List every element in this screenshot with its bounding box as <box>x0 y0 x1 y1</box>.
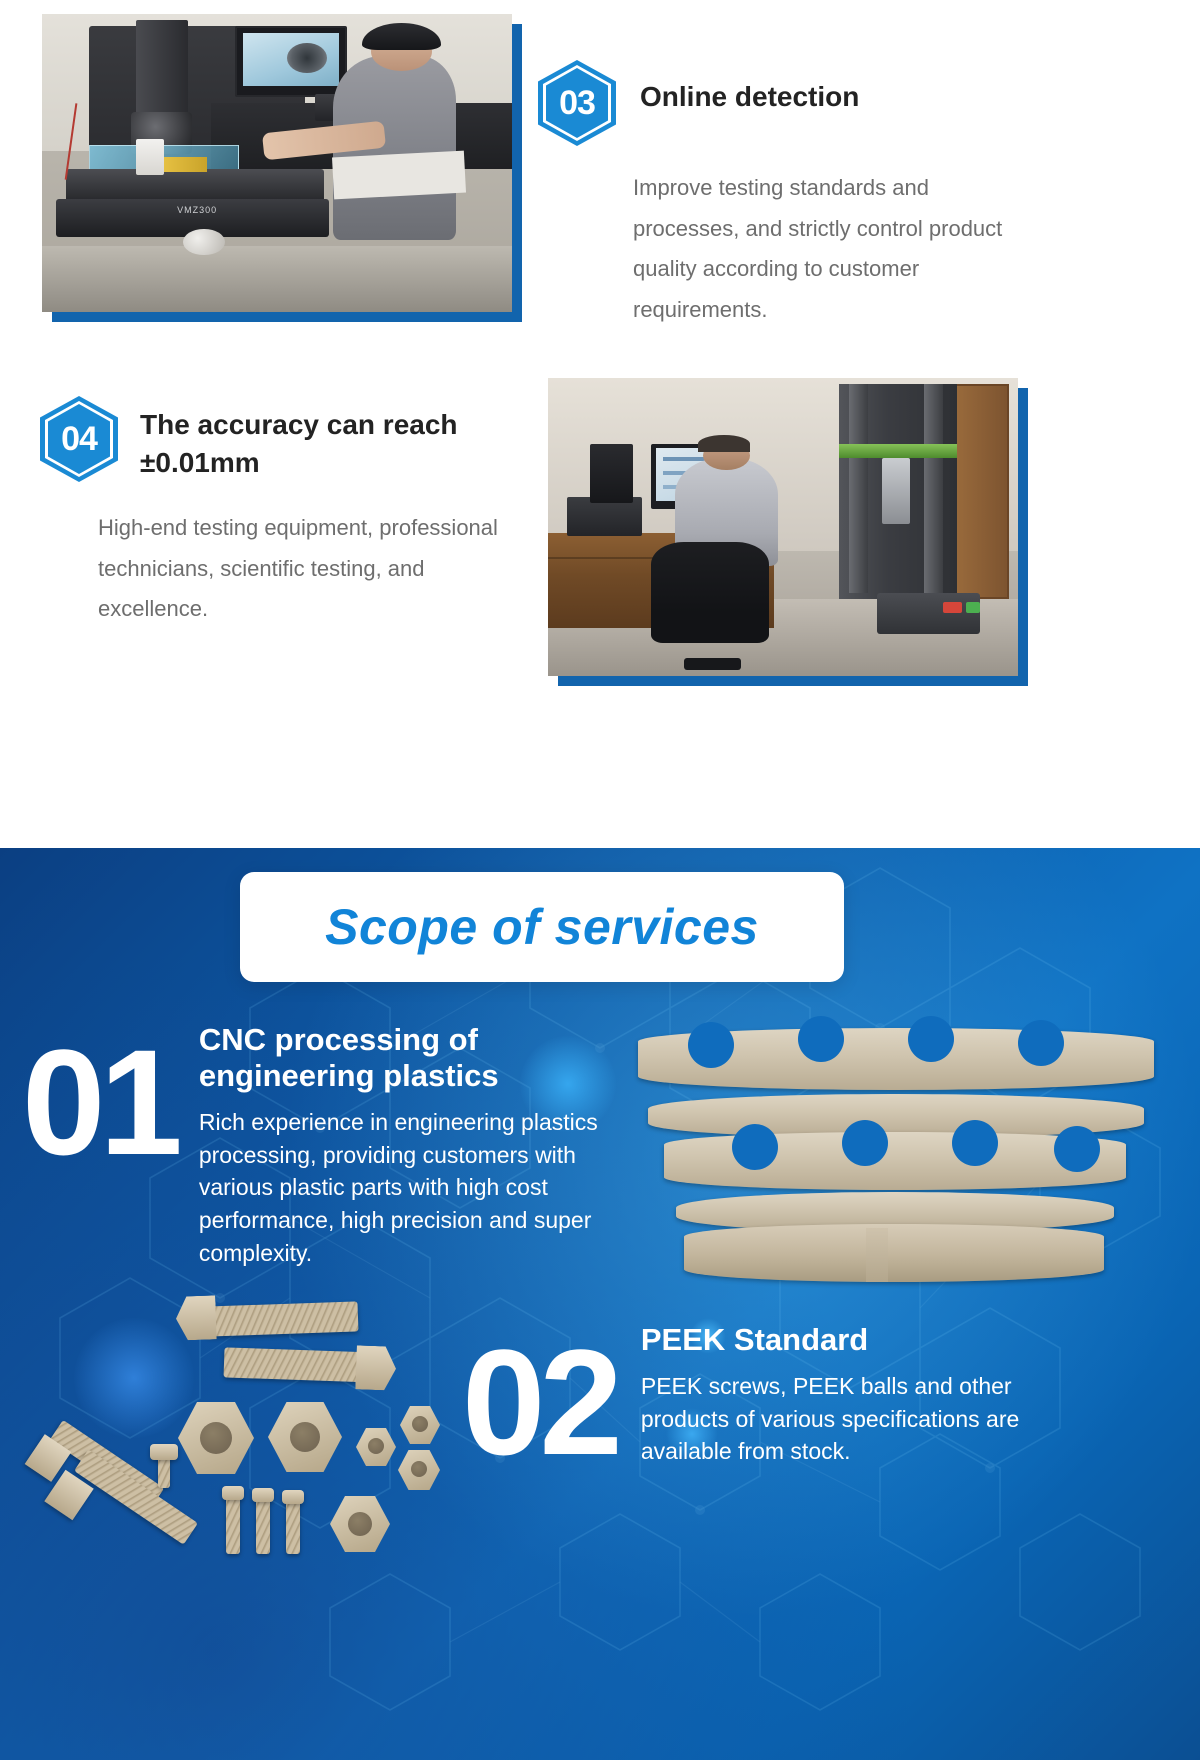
service-01-block: 01 CNC processing of engineering plastic… <box>22 1022 642 1269</box>
feature-04-block: 04 The accuracy can reach ±0.01mm High-e… <box>40 396 540 630</box>
feature-03-title: Online detection <box>640 78 859 116</box>
feature-04-photo-frame <box>548 378 1018 676</box>
service-02-body: PEEK screws, PEEK balls and other produc… <box>641 1370 1041 1468</box>
scope-banner-title: Scope of services <box>325 898 759 956</box>
feature-04-title: The accuracy can reach ±0.01mm <box>140 406 480 482</box>
frame-accent-right <box>512 24 522 322</box>
service-02-title: PEEK Standard <box>641 1322 1041 1358</box>
page-root: VMZ300 03 Online detection Improve testi… <box>0 0 1200 1760</box>
feature-03-number-badge: 03 <box>538 60 616 146</box>
photo-tensile-testing-machine <box>548 378 1018 676</box>
frame-accent-bottom <box>52 312 522 322</box>
features-section: VMZ300 03 Online detection Improve testi… <box>0 0 1200 848</box>
frame-accent-bottom <box>558 676 1028 686</box>
service-01-title: CNC processing of engineering plastics <box>199 1022 635 1094</box>
feature-03-number: 03 <box>538 60 616 146</box>
photo-machined-peek-parts <box>630 1020 1160 1290</box>
service-01-number: 01 <box>22 1022 177 1269</box>
machine-model-label: VMZ300 <box>164 205 230 220</box>
feature-03-body: Improve testing standards and processes,… <box>633 168 1023 331</box>
feature-03-photo-frame: VMZ300 <box>42 14 512 312</box>
service-01-body: Rich experience in engineering plastics … <box>199 1106 635 1269</box>
service-02-block: 02 PEEK Standard PEEK screws, PEEK balls… <box>462 1322 1182 1468</box>
feature-04-number: 04 <box>40 396 118 482</box>
feature-04-number-badge: 04 <box>40 396 118 482</box>
photo-optical-measuring-machine: VMZ300 <box>42 14 512 312</box>
frame-accent-right <box>1018 388 1028 686</box>
photo-peek-screws-and-nuts <box>30 1280 450 1570</box>
service-02-number: 02 <box>462 1322 617 1468</box>
feature-04-body: High-end testing equipment, professional… <box>98 508 538 630</box>
scope-banner-card: Scope of services <box>240 872 844 982</box>
feature-03-block: 03 Online detection Improve testing stan… <box>538 60 1158 331</box>
